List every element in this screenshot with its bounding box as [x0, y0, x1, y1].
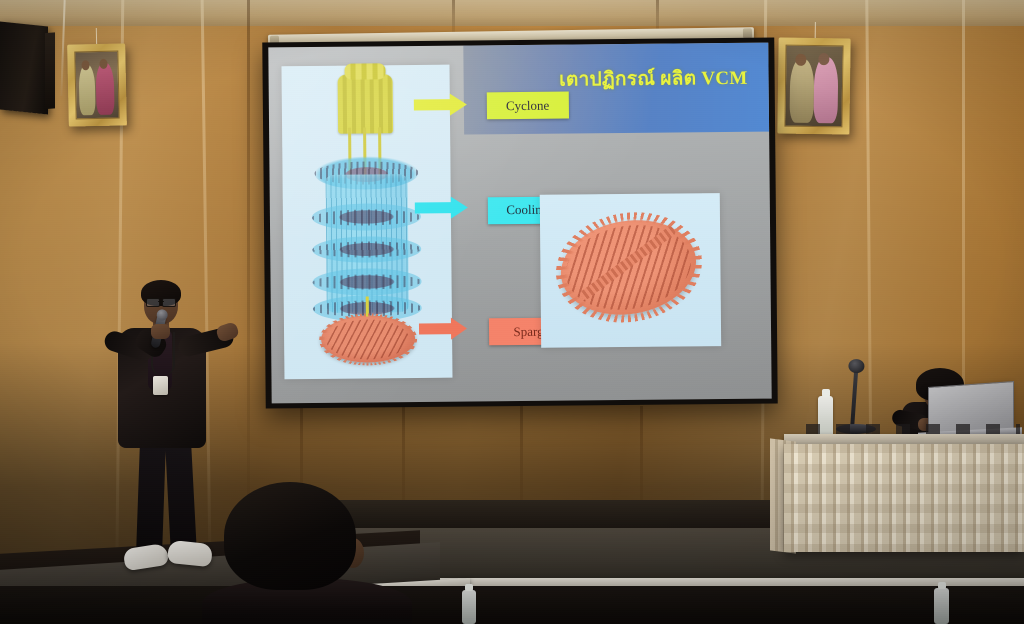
cyclone-assembly-icon [338, 74, 393, 133]
portrait-image [74, 51, 119, 120]
presentation-photo-scene: เตาปฏิกรณ์ ผลิต VCM [0, 0, 1024, 624]
label-cyclone: Cyclone [486, 92, 569, 120]
id-badge [153, 376, 168, 395]
presenter-leg [165, 441, 197, 554]
reactor-column-diagram [303, 74, 430, 370]
slide-content: เตาปฏิกรณ์ ผลิต VCM [268, 43, 771, 404]
table-skirt [784, 444, 1024, 552]
water-bottle-icon [462, 590, 476, 624]
presenter-hand-left [151, 324, 170, 339]
arrow-to-cyclone [414, 104, 476, 105]
sparger-closeup-panel [540, 193, 721, 348]
arrow-to-cooling-coil [415, 207, 477, 208]
audience-hair [224, 482, 356, 590]
eyeglasses-icon [146, 298, 176, 305]
wall-speaker-icon [0, 21, 48, 114]
framed-royal-portrait-right [777, 38, 850, 135]
sparger-closeup-image [554, 205, 706, 335]
portrait-hanging-wire [815, 22, 816, 38]
presenter-sneaker [123, 543, 170, 572]
foreground-audience-member [206, 482, 396, 624]
portrait-image [784, 45, 843, 128]
slide-title: เตาปฏิกรณ์ ผลิต VCM [559, 62, 748, 94]
wall-top-trim [0, 0, 1024, 26]
framed-royal-portrait-left [67, 43, 127, 126]
projection-screen[interactable]: เตาปฏิกรณ์ ผลิต VCM [262, 38, 777, 409]
presenter-leg [136, 442, 166, 555]
screen-surface: เตาปฏิกรณ์ ผลิต VCM [268, 43, 771, 404]
floor [0, 586, 1024, 624]
arrow-to-sparger [419, 328, 477, 329]
sparger-disc-icon [321, 315, 416, 363]
water-bottle-icon [934, 588, 949, 624]
